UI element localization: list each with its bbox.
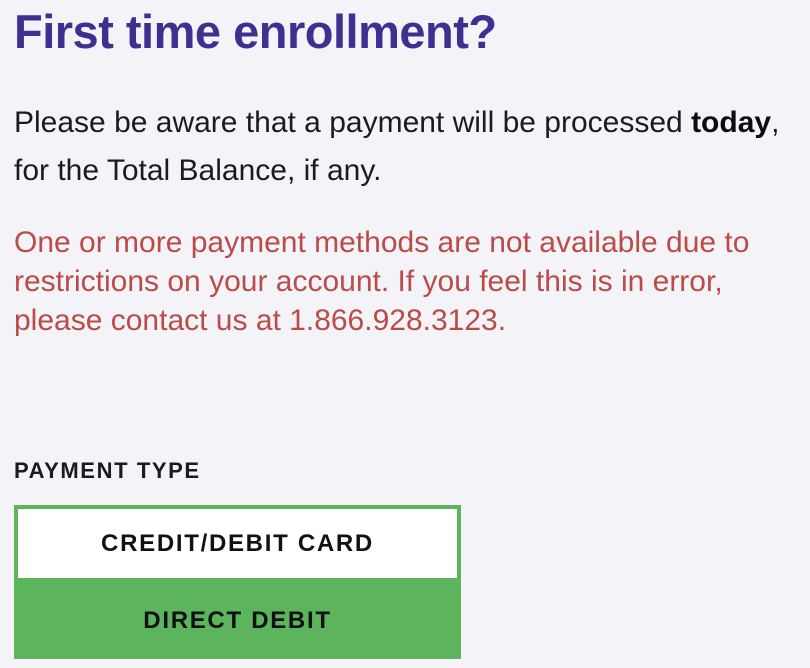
payment-type-label: PAYMENT TYPE <box>14 457 201 485</box>
payment-notice-emphasis: today <box>691 106 771 139</box>
payment-type-options: CREDIT/DEBIT CARD DIRECT DEBIT <box>14 505 461 659</box>
enrollment-page: First time enrollment? Please be aware t… <box>0 0 810 668</box>
payment-option-direct-debit[interactable]: DIRECT DEBIT <box>14 582 461 659</box>
restriction-alert-text: One or more payment methods are not avai… <box>14 223 804 340</box>
payment-notice-lead: Please be aware that a payment will be p… <box>14 106 691 139</box>
payment-option-credit-debit-card[interactable]: CREDIT/DEBIT CARD <box>14 505 461 582</box>
payment-notice-text: Please be aware that a payment will be p… <box>14 99 796 195</box>
page-title: First time enrollment? <box>14 2 497 62</box>
